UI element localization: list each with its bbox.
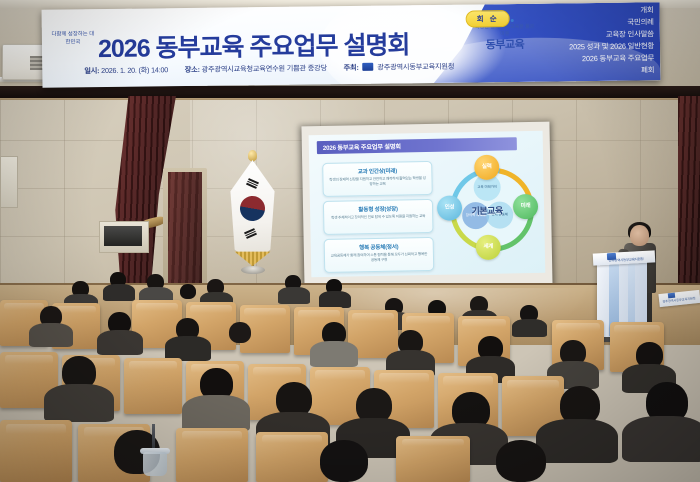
- diagram-node-right: 미래: [513, 194, 538, 219]
- slide-box-heading: 교과 인간상(미래): [323, 166, 431, 176]
- stage-curtain-right: [678, 96, 700, 286]
- auditorium-seat: [124, 358, 182, 414]
- auditorium-seat: [0, 420, 72, 482]
- wall-frame: [0, 156, 18, 208]
- attendee-head: [180, 284, 196, 299]
- banner-place-value: 광주광역시교육청교육연수원 기쁨관 중강당: [201, 63, 327, 74]
- attendee-shoulders: [536, 419, 618, 463]
- diagram-node-bottom: 세계: [476, 235, 501, 260]
- slide-box-body: 학생의 잠재력 신장을 지원하고 안전하고 쾌적하게 활력있는 학생을 성장하는…: [328, 176, 426, 189]
- attendee-head: [320, 440, 368, 482]
- drink-cup: [143, 452, 167, 476]
- slide-box-body: 교육공동체가 함께 참여하여 소통 협력을 통해 모두가 신뢰하고 행복한 공동…: [330, 252, 428, 265]
- banner-logo-left: 다함께 성장하는 대한민국: [50, 31, 96, 47]
- event-banner: 다함께 성장하는 대한민국 2026 동부교육 주요업무 설명회 일시: 202…: [42, 2, 661, 88]
- agenda-item: 폐회: [464, 64, 654, 78]
- slide-box: 활동형 성장(성장) 학생 주체적이고 창의적인 진로 탐색 수 있도록 지원을…: [323, 199, 434, 235]
- wall-panel-screen: [104, 226, 142, 246]
- attendee-shoulders: [103, 284, 135, 301]
- slide-box-heading: 행복 공동체(정서): [325, 242, 433, 252]
- slide-box: 교과 인간상(미래) 학생의 잠재력 신장을 지원하고 안전하고 쾌적하게 활력…: [322, 161, 433, 197]
- projection-screen: 2026 동부교육 주요업무 설명회 교과 인간상(미래) 학생의 잠재력 신장…: [301, 122, 552, 291]
- slide-box: 행복 공동체(정서) 교육공동체가 함께 참여하여 소통 협력을 통해 모두가 …: [324, 237, 435, 273]
- attendee-shoulders: [97, 330, 143, 355]
- attendee-head: [496, 440, 546, 482]
- presentation-slide: 2026 동부교육 주요업무 설명회 교과 인간상(미래) 학생의 잠재력 신장…: [309, 131, 546, 277]
- banner-date-value: 2026. 1. 20. (화) 14:00: [101, 65, 168, 75]
- auditorium-seat: [176, 428, 248, 482]
- banner-title: 2026 동부교육 주요업무 설명회: [98, 25, 438, 65]
- banner-logo-left-text: 다함께 성장하는 대한민국: [51, 31, 94, 45]
- attendee-shoulders: [512, 319, 547, 337]
- attendee-head: [229, 322, 251, 343]
- attendee-shoulders: [278, 287, 310, 304]
- auditorium-seat: [256, 432, 328, 482]
- door-icon: [168, 172, 202, 286]
- attendee-shoulders: [319, 291, 351, 308]
- attendee-shoulders: [29, 323, 73, 347]
- host-logo-icon: [362, 63, 373, 71]
- attendee-shoulders: [310, 341, 358, 367]
- diagram-center-label: 기본교육: [456, 203, 518, 217]
- attendee-shoulders: [44, 384, 114, 422]
- speaker-head: [630, 225, 649, 246]
- agenda-list: 개회 국민의례 교육장 인사말씀 2025 성과 및 2026 일반현황 202…: [464, 4, 655, 78]
- flag-finial-icon: [248, 150, 257, 161]
- banner-date-label: 일시:: [84, 66, 99, 75]
- banner-place-label: 장소:: [185, 65, 200, 74]
- attendee-shoulders: [182, 395, 250, 432]
- slide-circular-diagram: 교육 미래가치 창의적 사고력 정서 공동체 기본교육 실력 미래 세계 인성: [435, 153, 539, 271]
- banner-host-value: 광주광역시동부교육지원청: [377, 62, 454, 72]
- slide-box-body: 학생 주체적이고 창의적인 진로 탐색 수 있도록 지원을 지원하는 교육: [329, 214, 427, 221]
- attendee-shoulders: [622, 416, 700, 462]
- slide-box-heading: 활동형 성장(성장): [324, 204, 432, 214]
- flag-stand-base: [241, 266, 265, 274]
- banner-host-label: 주최:: [344, 63, 359, 72]
- auditorium-photo: 다함께 성장하는 대한민국 2026 동부교육 주요업무 설명회 일시: 202…: [0, 0, 700, 482]
- auditorium-seat: [396, 436, 470, 482]
